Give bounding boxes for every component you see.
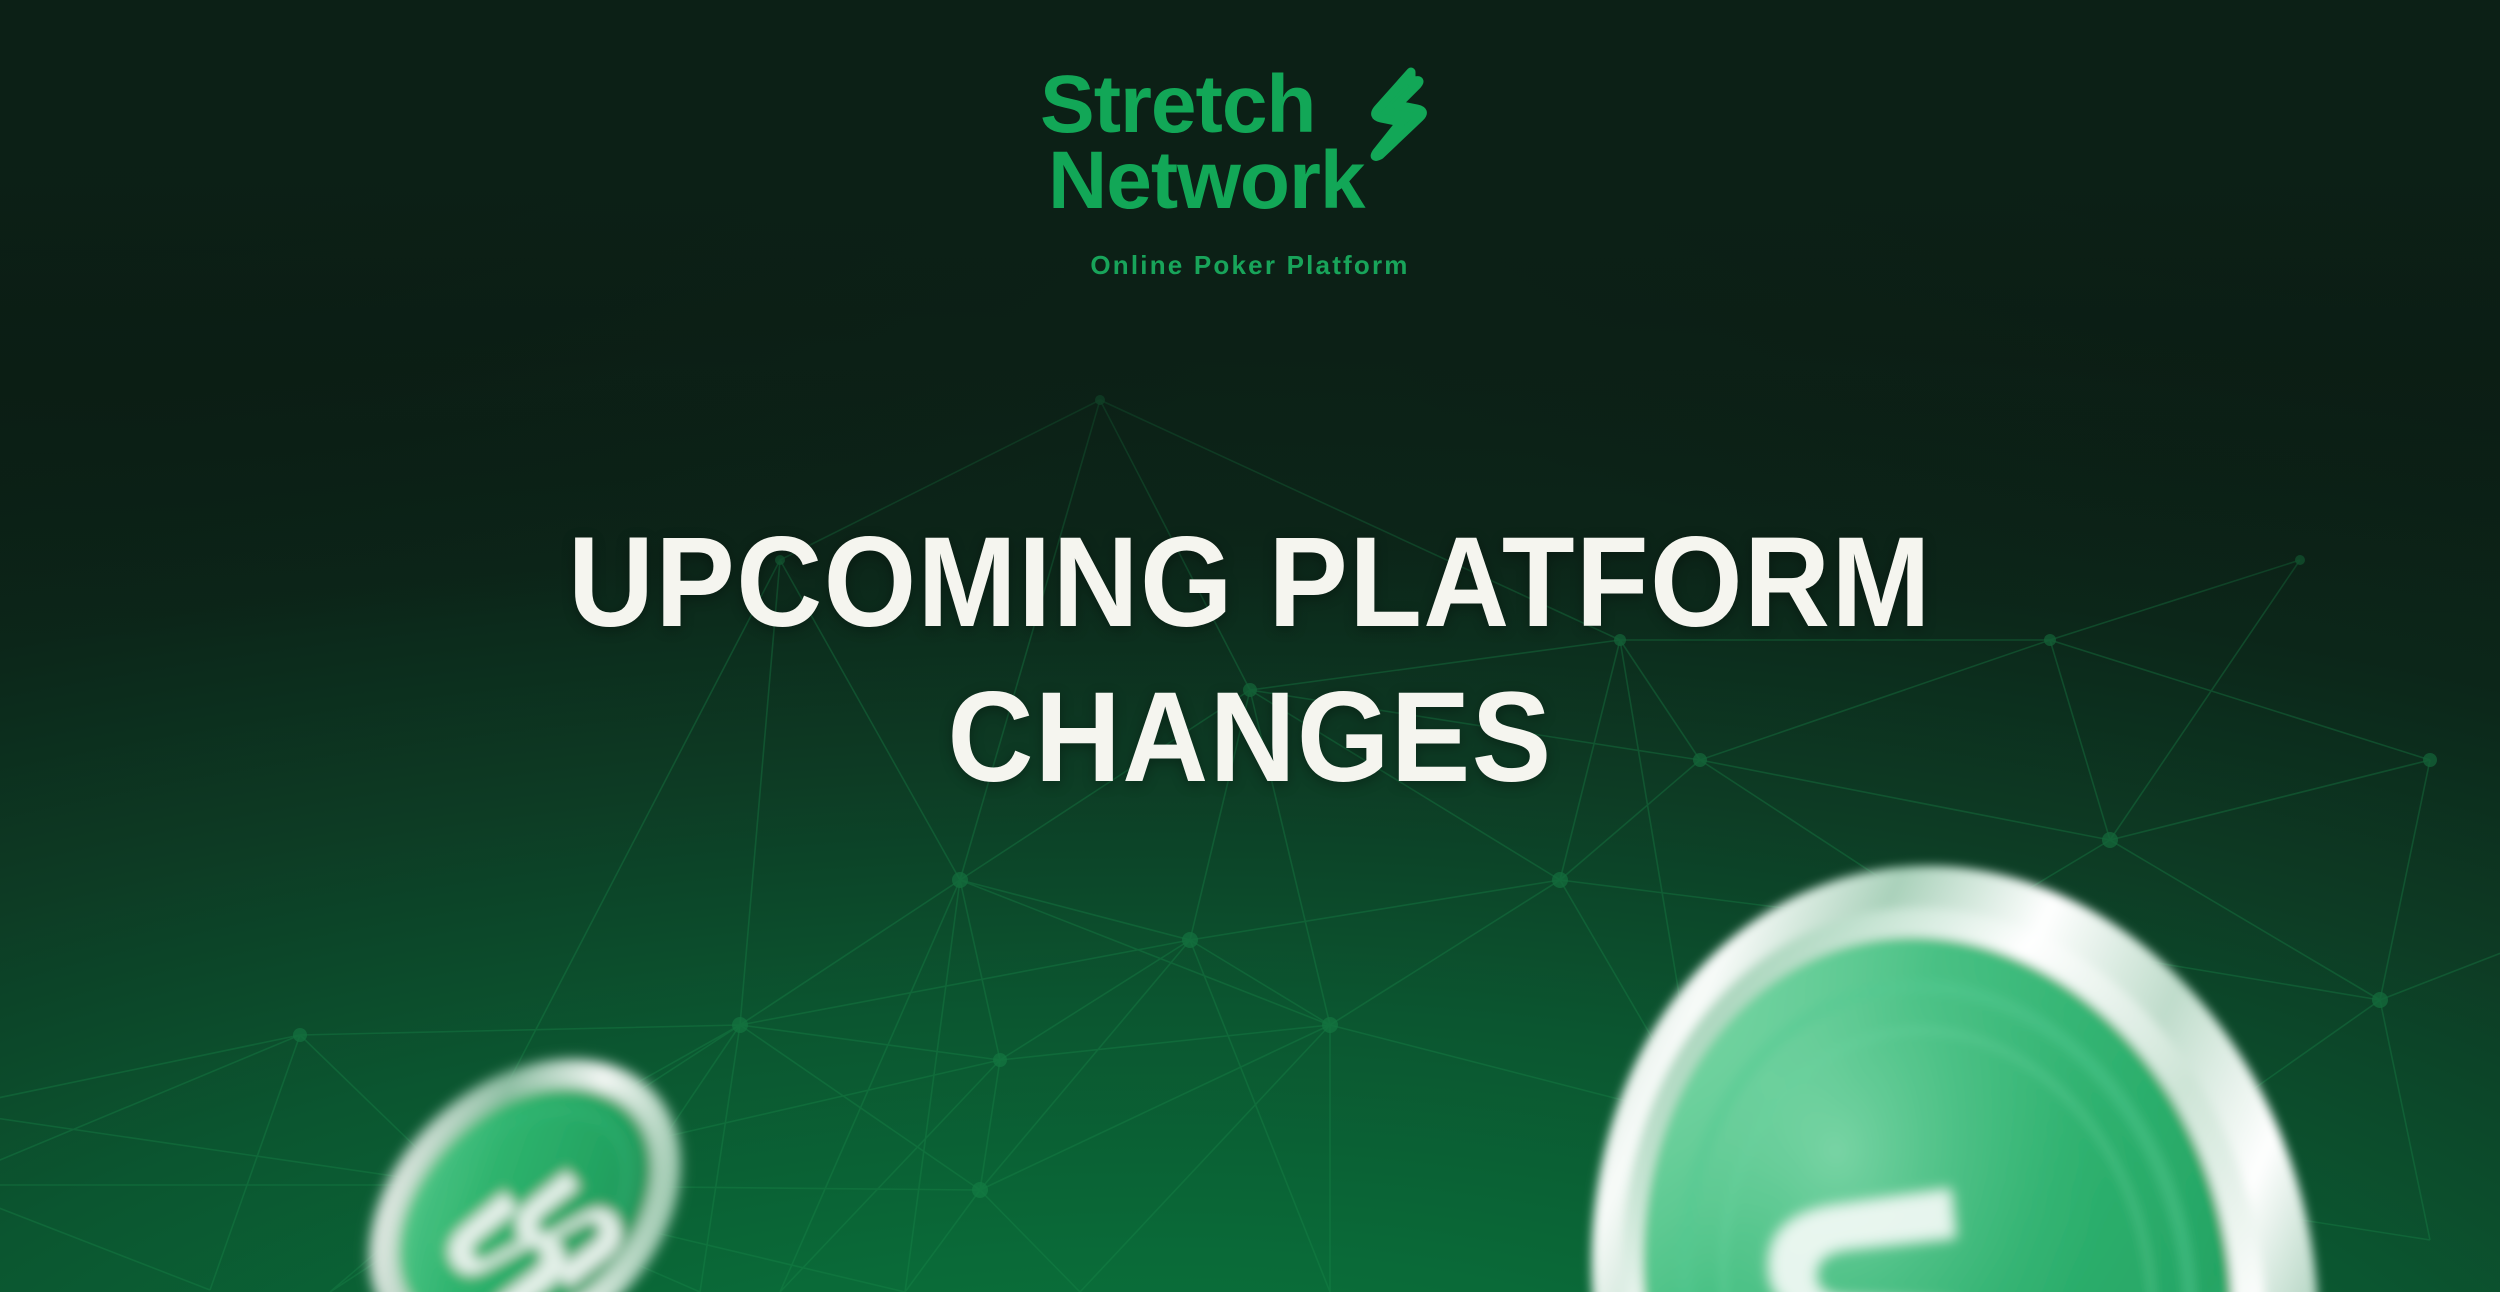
page-title-line-2: CHANGES <box>88 660 2413 815</box>
promo-banner: Stretch Network Online Poker Platform UP… <box>0 0 2500 1292</box>
page-title: UPCOMING PLATFORM CHANGES <box>88 505 2413 815</box>
stretch-coin-large <box>1505 845 2405 1292</box>
page-title-line-1: UPCOMING PLATFORM <box>88 505 2413 660</box>
stretch-coin-small <box>330 1015 720 1292</box>
